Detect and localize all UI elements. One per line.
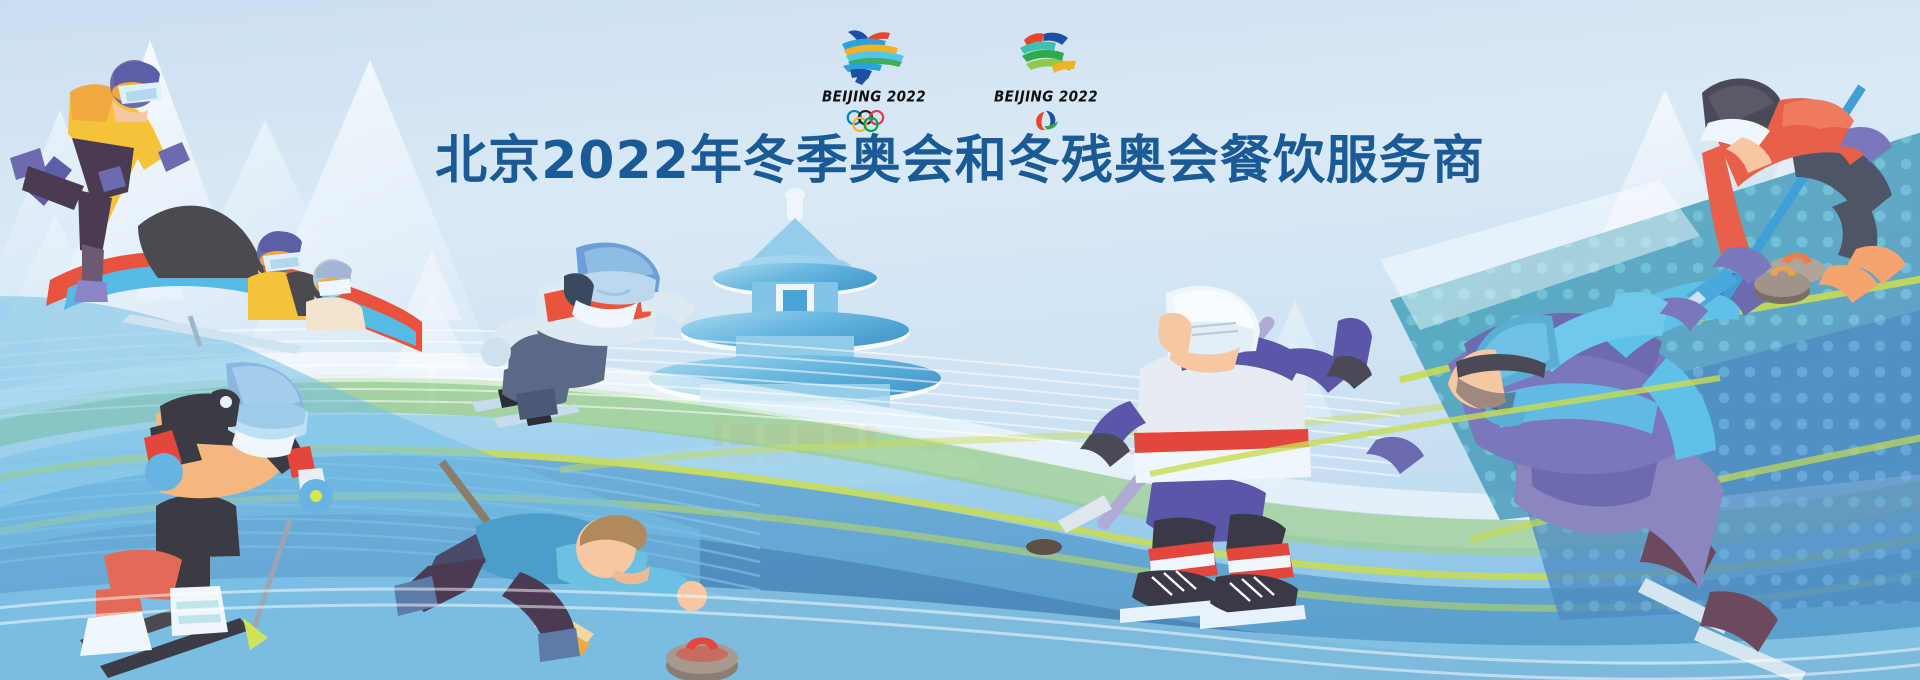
olympic-wordmark: BEIJING 2022 — [822, 88, 926, 106]
paralympic-wordmark: BEIJING 2022 — [994, 88, 1098, 106]
ice-hockey-player — [1060, 265, 1400, 645]
olympic-emblem: BEIJING 2022 — [814, 26, 934, 133]
winter-paralympic-emblem-icon — [1000, 26, 1092, 86]
curling-stone — [666, 638, 738, 680]
banner-header: BEIJING 2022 — [0, 0, 1920, 133]
curler-sliding — [380, 430, 740, 680]
page-title: 北京2022年冬季奥会和冬残奥会餐饮服务商 — [0, 118, 1920, 193]
emblem-row: BEIJING 2022 — [0, 0, 1920, 133]
alpine-skier — [60, 350, 390, 680]
olympic-banner: BEIJING 2022 — [0, 0, 1920, 680]
winter-olympic-emblem-icon — [828, 26, 920, 86]
speed-skater-center — [480, 230, 720, 460]
paralympic-emblem: BEIJING 2022 — [986, 26, 1106, 133]
